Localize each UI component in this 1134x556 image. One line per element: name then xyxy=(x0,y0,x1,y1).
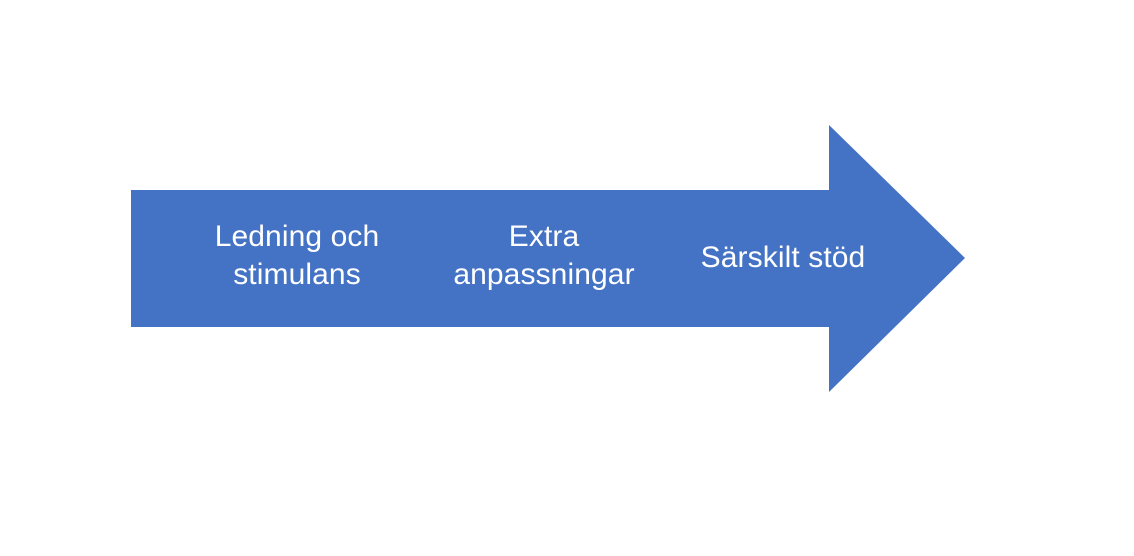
stage-label-extra-anpassningar: Extra anpassningar xyxy=(424,218,664,294)
diagram-canvas: Ledning och stimulans Extra anpassningar… xyxy=(0,0,1134,556)
stage-label-ledning-och-stimulans: Ledning och stimulans xyxy=(177,218,417,294)
stage-label-sarskilt-stod: Särskilt stöd xyxy=(663,239,903,277)
